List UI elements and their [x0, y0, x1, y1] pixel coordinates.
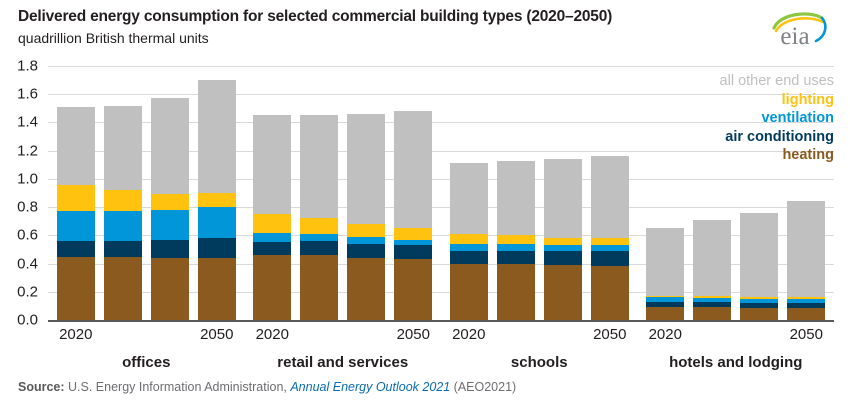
- bar-segment-air-conditioning: [300, 241, 338, 255]
- bar-segment-air-conditioning: [497, 251, 535, 264]
- bar-segment-heating: [198, 258, 236, 320]
- stacked-bar[interactable]: [104, 106, 142, 320]
- stacked-bar[interactable]: [693, 220, 731, 320]
- bar-segment-lighting: [347, 224, 385, 237]
- stacked-bar[interactable]: [198, 80, 236, 320]
- bar-segment-heating: [544, 265, 582, 320]
- y-axis-tick-label: 1.8: [17, 58, 38, 75]
- stacked-bar[interactable]: [253, 115, 291, 320]
- bar-segment-heating: [394, 259, 432, 320]
- stacked-bar[interactable]: [394, 111, 432, 320]
- bar-segment-ventilation: [198, 207, 236, 238]
- x-axis-group-label: retail and services: [277, 354, 408, 371]
- x-axis-tick-label: 2050: [397, 326, 430, 343]
- x-axis-tick-label: 2020: [452, 326, 485, 343]
- y-axis-tick-label: 1.6: [17, 86, 38, 103]
- y-axis-tick-label: 1.0: [17, 170, 38, 187]
- legend-item: all other end uses: [720, 72, 834, 91]
- bar-segment-heating: [787, 308, 825, 320]
- bar-segment-heating: [57, 257, 95, 321]
- bar-segment-all-other-end-uses: [151, 98, 189, 194]
- bar-segment-air-conditioning: [104, 241, 142, 257]
- legend-item: ventilation: [720, 109, 834, 128]
- bar-segment-ventilation: [104, 211, 142, 241]
- bar-segment-lighting: [787, 297, 825, 299]
- bar-segment-ventilation: [347, 237, 385, 244]
- stacked-bar[interactable]: [151, 98, 189, 320]
- legend-item: lighting: [720, 91, 834, 110]
- svg-text:eia: eia: [780, 23, 809, 50]
- bar-segment-ventilation: [450, 244, 488, 251]
- stacked-bar[interactable]: [646, 228, 684, 320]
- bar-group: [441, 66, 638, 320]
- bar-segment-ventilation: [497, 244, 535, 251]
- bar-segment-heating: [347, 258, 385, 320]
- bar-segment-all-other-end-uses: [300, 115, 338, 218]
- bar-segment-ventilation: [151, 210, 189, 240]
- bar-groups: [48, 66, 834, 320]
- bar-segment-air-conditioning: [693, 302, 731, 307]
- bar-segment-ventilation: [57, 211, 95, 241]
- bar-segment-lighting: [253, 214, 291, 232]
- bar-segment-lighting: [300, 218, 338, 234]
- chart-subtitle: quadrillion British thermal units: [18, 30, 209, 46]
- bar-segment-ventilation: [394, 240, 432, 246]
- stacked-bar[interactable]: [497, 161, 535, 320]
- y-axis-tick-label: 0.0: [17, 312, 38, 329]
- y-axis-tick-label: 0.2: [17, 283, 38, 300]
- bar-segment-all-other-end-uses: [740, 213, 778, 297]
- bar-segment-heating: [450, 264, 488, 320]
- bar-segment-air-conditioning: [57, 241, 95, 257]
- bar-segment-air-conditioning: [740, 303, 778, 308]
- bar-segment-lighting: [646, 296, 684, 298]
- chart-title: Delivered energy consumption for selecte…: [18, 8, 612, 26]
- bar-segment-lighting: [198, 193, 236, 207]
- bar-segment-lighting: [497, 235, 535, 243]
- bar-segment-ventilation: [300, 234, 338, 241]
- source-suffix: (AEO2021): [450, 380, 516, 394]
- bar-segment-lighting: [104, 190, 142, 211]
- x-axis-tick-label: 2050: [593, 326, 626, 343]
- x-axis-tick-label: 2020: [59, 326, 92, 343]
- bar-segment-heating: [253, 255, 291, 320]
- bar-segment-heating: [497, 264, 535, 320]
- bar-segment-all-other-end-uses: [347, 114, 385, 224]
- stacked-bar[interactable]: [57, 107, 95, 320]
- bar-segment-all-other-end-uses: [57, 107, 95, 185]
- stacked-bar[interactable]: [300, 115, 338, 320]
- stacked-bar[interactable]: [787, 201, 825, 320]
- bar-segment-lighting: [693, 296, 731, 298]
- bar-segment-all-other-end-uses: [104, 106, 142, 191]
- bar-segment-all-other-end-uses: [198, 80, 236, 193]
- x-axis-group-label: hotels and lodging: [669, 354, 802, 371]
- bar-segment-heating: [591, 266, 629, 320]
- stacked-bar[interactable]: [591, 156, 629, 320]
- bar-segment-air-conditioning: [347, 244, 385, 258]
- bar-segment-lighting: [544, 238, 582, 245]
- bar-segment-all-other-end-uses: [544, 159, 582, 238]
- bar-group: [48, 66, 245, 320]
- bar-segment-air-conditioning: [646, 302, 684, 307]
- y-axis-tick-label: 1.4: [17, 114, 38, 131]
- bar-segment-heating: [740, 308, 778, 320]
- eia-logo-icon: eia: [764, 6, 832, 50]
- bar-segment-ventilation: [740, 299, 778, 303]
- legend-item: air conditioning: [720, 128, 834, 147]
- x-axis-tick-label: 2050: [790, 326, 823, 343]
- stacked-bar[interactable]: [450, 163, 488, 320]
- source-note: Source: U.S. Energy Information Administ…: [18, 380, 516, 394]
- y-axis-tick-label: 0.4: [17, 255, 38, 272]
- bar-segment-heating: [300, 255, 338, 320]
- bar-group: [245, 66, 442, 320]
- bar-segment-air-conditioning: [787, 303, 825, 308]
- y-axis-labels: 0.00.20.40.60.81.01.21.41.61.8: [0, 66, 44, 322]
- stacked-bar[interactable]: [740, 213, 778, 320]
- bar-segment-air-conditioning: [151, 240, 189, 258]
- bar-segment-air-conditioning: [591, 251, 629, 267]
- source-agency: U.S. Energy Information Administration,: [65, 380, 291, 394]
- bar-segment-lighting: [57, 185, 95, 212]
- bar-segment-air-conditioning: [544, 251, 582, 265]
- bar-segment-heating: [693, 307, 731, 320]
- bar-segment-ventilation: [787, 299, 825, 303]
- bar-segment-heating: [646, 307, 684, 320]
- x-axis-tick-label: 2050: [200, 326, 233, 343]
- bar-segment-lighting: [151, 194, 189, 210]
- bar-segment-all-other-end-uses: [646, 228, 684, 295]
- stacked-bar[interactable]: [544, 159, 582, 320]
- bar-segment-lighting: [740, 297, 778, 299]
- bar-segment-all-other-end-uses: [253, 115, 291, 214]
- bar-segment-all-other-end-uses: [787, 201, 825, 297]
- bar-segment-ventilation: [591, 245, 629, 251]
- legend-item: heating: [720, 146, 834, 165]
- bar-segment-ventilation: [253, 233, 291, 243]
- y-axis-tick-label: 0.6: [17, 227, 38, 244]
- bar-segment-lighting: [394, 228, 432, 239]
- bar-segment-ventilation: [646, 297, 684, 302]
- x-axis-labels: 20202050offices20202050retail and servic…: [48, 326, 834, 386]
- chart-container: Delivered energy consumption for selecte…: [0, 0, 850, 402]
- source-publication: Annual Energy Outlook 2021: [290, 380, 450, 394]
- source-label: Source:: [18, 380, 65, 394]
- y-axis-tick-label: 0.8: [17, 199, 38, 216]
- x-axis-group-label: offices: [122, 354, 170, 371]
- bar-segment-ventilation: [693, 298, 731, 303]
- bar-segment-air-conditioning: [450, 251, 488, 264]
- bar-segment-air-conditioning: [198, 238, 236, 258]
- x-axis-line: [48, 320, 834, 322]
- bar-segment-all-other-end-uses: [394, 111, 432, 228]
- bar-segment-all-other-end-uses: [693, 220, 731, 296]
- x-axis-tick-label: 2020: [256, 326, 289, 343]
- x-axis-tick-label: 2020: [649, 326, 682, 343]
- bar-segment-heating: [104, 257, 142, 321]
- x-axis-group-label: schools: [511, 354, 568, 371]
- bar-segment-air-conditioning: [394, 245, 432, 259]
- plot-area: [48, 66, 834, 322]
- bar-segment-heating: [151, 258, 189, 320]
- bar-segment-all-other-end-uses: [591, 156, 629, 238]
- bar-segment-all-other-end-uses: [450, 163, 488, 234]
- bar-segment-lighting: [591, 238, 629, 245]
- stacked-bar[interactable]: [347, 114, 385, 320]
- chart-legend: all other end useslightingventilationair…: [720, 72, 834, 165]
- bar-segment-lighting: [450, 234, 488, 244]
- bar-segment-ventilation: [544, 245, 582, 251]
- bar-segment-all-other-end-uses: [497, 161, 535, 236]
- bar-segment-air-conditioning: [253, 242, 291, 255]
- y-axis-tick-label: 1.2: [17, 142, 38, 159]
